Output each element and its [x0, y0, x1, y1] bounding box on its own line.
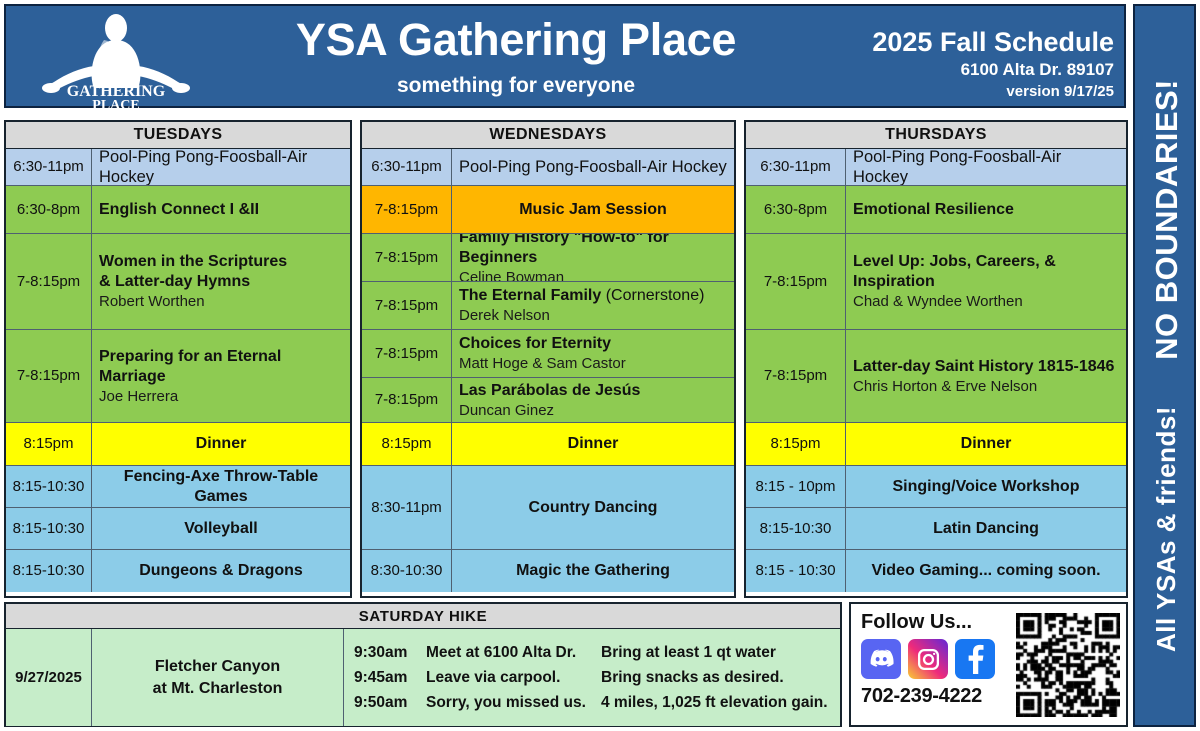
row-time: 7-8:15pm: [362, 282, 452, 329]
activity-title: Choices for Eternity: [459, 334, 727, 354]
row-time: 6:30-8pm: [746, 186, 846, 233]
ysa-logo: YSA GATHERING PLACE: [36, 10, 196, 110]
row-time: 7-8:15pm: [362, 186, 452, 233]
activity-title: Emotional Resilience: [853, 200, 1119, 220]
day-header-thursdays: THURSDAYS: [746, 122, 1126, 149]
row-time: 7-8:15pm: [6, 234, 92, 329]
schedule-rows-tuesdays: 6:30-11pmPool-Ping Pong-Foosball-Air Hoc…: [6, 149, 350, 592]
activity-title: Pool-Ping Pong-Foosball-Air Hockey: [459, 157, 727, 177]
row-time: 7-8:15pm: [746, 330, 846, 422]
activity-title: Latin Dancing: [933, 519, 1039, 539]
activity-title: Latter-day Saint History 1815-1846: [853, 357, 1119, 377]
row-activity: Las Parábolas de JesúsDuncan Ginez: [452, 378, 734, 422]
activity-title: Video Gaming... coming soon.: [871, 561, 1100, 581]
hike-detail-note: Bring at least 1 qt water: [601, 640, 840, 665]
page-title: YSA Gathering Place: [196, 12, 836, 68]
activity-presenter: Chris Horton & Erve Nelson: [853, 377, 1119, 396]
row-time: 8:15-10:30: [746, 508, 846, 549]
hike-detail-note: Bring snacks as desired.: [601, 665, 840, 690]
row-activity: Level Up: Jobs, Careers, & InspirationCh…: [846, 234, 1126, 329]
bottom-section: SATURDAY HIKE 9/27/2025 Fletcher Canyon …: [4, 602, 1128, 727]
schedule-row: 7-8:15pmWomen in the Scriptures& Latter-…: [6, 234, 350, 330]
row-time: 6:30-11pm: [362, 149, 452, 185]
schedule-row: 8:15pmDinner: [362, 423, 734, 466]
activity-title: Singing/Voice Workshop: [893, 477, 1080, 497]
schedule-row: 7-8:15pmThe Eternal Family (Cornerstone)…: [362, 282, 734, 330]
row-time: 6:30-8pm: [6, 186, 92, 233]
row-activity: Latter-day Saint History 1815-1846Chris …: [846, 330, 1126, 422]
row-activity: Family History "How-to" for BeginnersCel…: [452, 234, 734, 281]
hike-detail-row: 9:45amLeave via carpool.Bring snacks as …: [354, 665, 840, 690]
hike-date: 9/27/2025: [6, 629, 92, 726]
discord-icon[interactable]: [861, 639, 901, 679]
follow-us-box: Follow Us...: [849, 602, 1128, 727]
day-column-thursdays: THURSDAYS 6:30-11pmPool-Ping Pong-Foosba…: [744, 120, 1128, 598]
row-time: 7-8:15pm: [362, 378, 452, 422]
schedule-row: 8:30-11pmCountry Dancing: [362, 466, 734, 550]
hike-location-line2: at Mt. Charleston: [153, 678, 283, 700]
row-time: 8:15-10:30: [6, 508, 92, 549]
activity-title: Preparing for an Eternal Marriage: [99, 347, 343, 387]
row-activity: Dinner: [92, 423, 350, 465]
page-subtitle: something for everyone: [196, 73, 836, 99]
schedule-row: 6:30-11pmPool-Ping Pong-Foosball-Air Hoc…: [362, 149, 734, 186]
side-banner-headline: NO BOUNDARIES!: [1149, 79, 1185, 360]
title-block: YSA Gathering Place something for everyo…: [196, 12, 836, 99]
schedule-row: 8:15-10:30Latin Dancing: [746, 508, 1126, 550]
day-header-wednesdays: WEDNESDAYS: [362, 122, 734, 149]
row-activity: Choices for EternityMatt Hoge & Sam Cast…: [452, 330, 734, 377]
activity-title: Magic the Gathering: [516, 561, 670, 581]
row-time: 6:30-11pm: [6, 149, 92, 185]
schedule-row: 8:15 - 10pmSinging/Voice Workshop: [746, 466, 1126, 508]
qr-code[interactable]: [1009, 604, 1126, 725]
schedule-row: 8:15-10:30Volleyball: [6, 508, 350, 550]
row-activity: Dungeons & Dragons: [92, 550, 350, 592]
day-column-tuesdays: TUESDAYS 6:30-11pmPool-Ping Pong-Foosbal…: [4, 120, 352, 598]
hike-detail-time: 9:45am: [354, 665, 426, 690]
schedule-row: 7-8:15pmLas Parábolas de JesúsDuncan Gin…: [362, 378, 734, 423]
hike-heading: SATURDAY HIKE: [6, 604, 840, 629]
activity-presenter: Celine Bowman: [459, 268, 727, 281]
schedule-row: 6:30-8pmEnglish Connect I &II: [6, 186, 350, 234]
row-activity: Dinner: [452, 423, 734, 465]
row-activity: Pool-Ping Pong-Foosball-Air Hockey: [92, 149, 350, 185]
row-activity: Music Jam Session: [452, 186, 734, 233]
row-activity: Women in the Scriptures& Latter-day Hymn…: [92, 234, 350, 329]
row-time: 7-8:15pm: [746, 234, 846, 329]
activity-presenter: Derek Nelson: [459, 306, 727, 325]
day-header-tuesdays: TUESDAYS: [6, 122, 350, 149]
saturday-hike-box: SATURDAY HIKE 9/27/2025 Fletcher Canyon …: [4, 602, 842, 727]
hike-detail-what: Meet at 6100 Alta Dr.: [426, 640, 601, 665]
schedule-row: 6:30-8pmEmotional Resilience: [746, 186, 1126, 234]
schedule-row: 7-8:15pmMusic Jam Session: [362, 186, 734, 234]
day-column-wednesdays: WEDNESDAYS 6:30-11pmPool-Ping Pong-Foosb…: [360, 120, 736, 598]
address-text: 6100 Alta Dr. 89107: [872, 58, 1114, 81]
row-time: 8:15pm: [362, 423, 452, 465]
schedule-rows-thursdays: 6:30-11pmPool-Ping Pong-Foosball-Air Hoc…: [746, 149, 1126, 592]
facebook-icon[interactable]: [955, 639, 995, 679]
hike-location-line1: Fletcher Canyon: [155, 656, 280, 678]
row-activity: Dinner: [846, 423, 1126, 465]
row-time: 7-8:15pm: [362, 234, 452, 281]
row-time: 8:15 - 10pm: [746, 466, 846, 507]
activity-presenter: Duncan Ginez: [459, 401, 727, 420]
activity-title: Music Jam Session: [519, 200, 667, 220]
version-text: version 9/17/25: [872, 81, 1114, 103]
side-banner: NO BOUNDARIES! All YSAs & friends!: [1133, 4, 1196, 727]
schedule-row: 8:15 - 10:30Video Gaming... coming soon.: [746, 550, 1126, 592]
row-activity: English Connect I &II: [92, 186, 350, 233]
schedule-row: 8:15-10:30Dungeons & Dragons: [6, 550, 350, 592]
day-columns: TUESDAYS 6:30-11pmPool-Ping Pong-Foosbal…: [4, 120, 1128, 598]
activity-title: Level Up: Jobs, Careers, & Inspiration: [853, 252, 1119, 292]
row-activity: Pool-Ping Pong-Foosball-Air Hockey: [452, 149, 734, 185]
activity-title: Dinner: [196, 434, 247, 454]
schedule-row: 6:30-11pmPool-Ping Pong-Foosball-Air Hoc…: [6, 149, 350, 186]
schedule-label: 2025 Fall Schedule: [872, 26, 1114, 58]
activity-title: Dungeons & Dragons: [139, 561, 303, 581]
row-time: 7-8:15pm: [362, 330, 452, 377]
schedule-row: 8:30-10:30Magic the Gathering: [362, 550, 734, 592]
activity-presenter: Matt Hoge & Sam Castor: [459, 354, 727, 373]
activity-title: Women in the Scriptures: [99, 252, 343, 272]
schedule-row: 7-8:15pmChoices for EternityMatt Hoge & …: [362, 330, 734, 378]
row-time: 8:15 - 10:30: [746, 550, 846, 592]
schedule-row: 8:15pmDinner: [746, 423, 1126, 466]
schedule-row: 7-8:15pmLatter-day Saint History 1815-18…: [746, 330, 1126, 423]
schedule-row: 6:30-11pmPool-Ping Pong-Foosball-Air Hoc…: [746, 149, 1126, 186]
schedule-rows-wednesdays: 6:30-11pmPool-Ping Pong-Foosball-Air Hoc…: [362, 149, 734, 592]
row-activity: The Eternal Family (Cornerstone)Derek Ne…: [452, 282, 734, 329]
row-time: 8:15pm: [6, 423, 92, 465]
activity-title: Fencing-Axe Throw-Table Games: [99, 467, 343, 507]
activity-title: Las Parábolas de Jesús: [459, 381, 727, 401]
social-links: [861, 639, 1009, 679]
schedule-row: 7-8:15pmLevel Up: Jobs, Careers, & Inspi…: [746, 234, 1126, 330]
hike-detail-note: 4 miles, 1,025 ft elevation gain.: [601, 690, 840, 715]
hike-detail-row: 9:50amSorry, you missed us.4 miles, 1,02…: [354, 690, 840, 715]
activity-title: English Connect I &II: [99, 200, 343, 220]
activity-title: Country Dancing: [529, 498, 658, 518]
side-banner-subline: All YSAs & friends!: [1151, 406, 1182, 652]
row-time: 7-8:15pm: [6, 330, 92, 422]
row-time: 8:15-10:30: [6, 550, 92, 592]
activity-title: Dinner: [568, 434, 619, 454]
follow-us-title: Follow Us...: [861, 610, 1009, 634]
hike-detail-time: 9:30am: [354, 640, 426, 665]
row-time: 8:30-10:30: [362, 550, 452, 592]
row-activity: Singing/Voice Workshop: [846, 466, 1126, 507]
row-activity: Latin Dancing: [846, 508, 1126, 549]
hike-detail-what: Sorry, you missed us.: [426, 690, 601, 715]
hike-detail-what: Leave via carpool.: [426, 665, 601, 690]
activity-title: Dinner: [961, 434, 1012, 454]
phone-number: 702-239-4222: [861, 685, 1009, 708]
hike-detail-row: 9:30amMeet at 6100 Alta Dr.Bring at leas…: [354, 640, 840, 665]
row-activity: Country Dancing: [452, 466, 734, 549]
row-time: 8:15-10:30: [6, 466, 92, 507]
hike-location: Fletcher Canyon at Mt. Charleston: [92, 629, 344, 726]
activity-title: The Eternal Family (Cornerstone): [459, 286, 727, 306]
hike-detail-time: 9:50am: [354, 690, 426, 715]
activity-title: Volleyball: [184, 519, 258, 539]
row-activity: Fencing-Axe Throw-Table Games: [92, 466, 350, 507]
activity-title-note: (Cornerstone): [601, 287, 704, 304]
activity-title-line2: & Latter-day Hymns: [99, 272, 343, 292]
schedule-row: 8:15pmDinner: [6, 423, 350, 466]
row-activity: Magic the Gathering: [452, 550, 734, 592]
activity-title: Pool-Ping Pong-Foosball-Air Hockey: [853, 149, 1119, 185]
row-time: 8:30-11pm: [362, 466, 452, 549]
instagram-icon[interactable]: [908, 639, 948, 679]
activity-title: Pool-Ping Pong-Foosball-Air Hockey: [99, 149, 343, 185]
activity-title: Family History "How-to" for Beginners: [459, 234, 727, 268]
activity-presenter: Chad & Wyndee Worthen: [853, 292, 1119, 311]
row-time: 6:30-11pm: [746, 149, 846, 185]
schedule-poster: YSA GATHERING PLACE YSA Gathering Place …: [0, 0, 1200, 731]
qr-code-canvas: [1016, 613, 1120, 717]
header-meta: 2025 Fall Schedule 6100 Alta Dr. 89107 v…: [872, 26, 1114, 103]
row-activity: Video Gaming... coming soon.: [846, 550, 1126, 592]
schedule-row: 8:15-10:30Fencing-Axe Throw-Table Games: [6, 466, 350, 508]
activity-presenter: Robert Worthen: [99, 292, 343, 311]
row-activity: Preparing for an Eternal MarriageJoe Her…: [92, 330, 350, 422]
activity-presenter: Joe Herrera: [99, 387, 343, 406]
row-activity: Pool-Ping Pong-Foosball-Air Hockey: [846, 149, 1126, 185]
schedule-row: 7-8:15pmPreparing for an Eternal Marriag…: [6, 330, 350, 423]
logo-text-place: PLACE: [92, 98, 139, 110]
row-time: 8:15pm: [746, 423, 846, 465]
row-activity: Volleyball: [92, 508, 350, 549]
header-banner: YSA GATHERING PLACE YSA Gathering Place …: [4, 4, 1126, 108]
schedule-row: 7-8:15pmFamily History "How-to" for Begi…: [362, 234, 734, 282]
hike-details: 9:30amMeet at 6100 Alta Dr.Bring at leas…: [344, 629, 840, 726]
row-activity: Emotional Resilience: [846, 186, 1126, 233]
